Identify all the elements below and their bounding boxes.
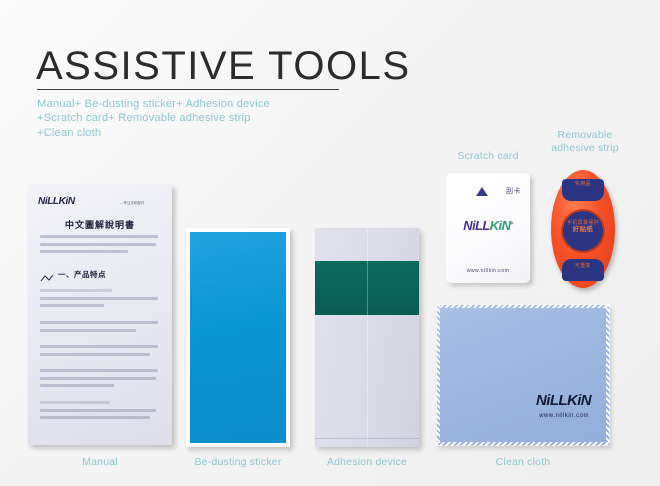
be-dusting-sticker (186, 228, 290, 447)
trademark-icon: ® (510, 221, 512, 226)
manual-paragraph (40, 321, 160, 336)
clean-cloth: NiLLKiN www.nillkin.com (437, 305, 609, 445)
manual-brand-tagline: —专注手机配件 (120, 200, 144, 205)
cloth-url: www.nillkin.com (539, 413, 589, 419)
caption-be-dusting-sticker: Be-dusting sticker (176, 456, 300, 469)
manual-section-heading: 一、产品特点 (58, 269, 106, 280)
caption-clean-cloth: Clean cloth (461, 456, 585, 469)
scratch-card-url: www.nillkin.com (446, 268, 530, 274)
page-subtitle: Manual+ Be-dusting sticker+ Adhesion dev… (37, 97, 377, 140)
strip-label-bottom: 可重复 (562, 259, 604, 281)
triangle-up-icon (476, 187, 488, 196)
page-title: ASSISTIVE TOOLS (36, 44, 411, 89)
adhesion-device (315, 228, 419, 447)
adhesion-foot-line (315, 438, 419, 439)
adhesion-seam (367, 228, 368, 447)
sticker-surface (190, 232, 286, 443)
cloth-edge-bottom (437, 442, 609, 446)
strip-label-middle: 手机屏幕保护 好贴纸 (561, 209, 605, 253)
removable-adhesive-strip: 实用品 手机屏幕保护 好贴纸 可重复 (551, 170, 615, 288)
manual-paragraph (40, 289, 160, 312)
manual-brand-logo: NiLLKiN —专注手机配件 (38, 197, 118, 206)
manual-brand-text: NiLLKiN (38, 197, 118, 206)
title-underline (37, 89, 339, 90)
cloth-brand: NiLLKiN (536, 392, 591, 409)
caption-scratch-card: Scratch card (441, 150, 535, 163)
manual-booklet: NiLLKiN —专注手机配件 中文圖解說明書 一、产品特点 (28, 185, 172, 445)
cloth-edge-right (606, 305, 610, 445)
scratch-card-brand: NiLLKiN® (446, 218, 530, 233)
scratch-card-brand-prefix: NiLL (463, 218, 489, 233)
caption-adhesion-device: Adhesion device (305, 456, 429, 469)
caption-adhesive-strip: Removable adhesive strip (533, 129, 637, 155)
poster-canvas: ASSISTIVE TOOLS Manual+ Be-dusting stick… (0, 0, 660, 486)
scratch-card: 刮卡 NiLLKiN® www.nillkin.com (446, 173, 530, 283)
manual-paragraph (40, 369, 160, 392)
manual-paragraph (40, 235, 160, 258)
scratch-card-brand-suffix: KiN (490, 218, 511, 233)
cloth-edge-top (437, 304, 609, 308)
strip-label-top: 实用品 (562, 179, 604, 201)
scratch-card-cn-label: 刮卡 (506, 186, 521, 196)
manual-paragraph (40, 345, 160, 360)
caption-manual: Manual (28, 456, 172, 469)
strip-label-middle-big: 好贴纸 (563, 226, 603, 232)
manual-bullet-icon (40, 270, 54, 279)
manual-doc-title: 中文圖解說明書 (28, 218, 172, 231)
manual-paragraph (40, 401, 160, 424)
cloth-edge-left (436, 305, 440, 445)
